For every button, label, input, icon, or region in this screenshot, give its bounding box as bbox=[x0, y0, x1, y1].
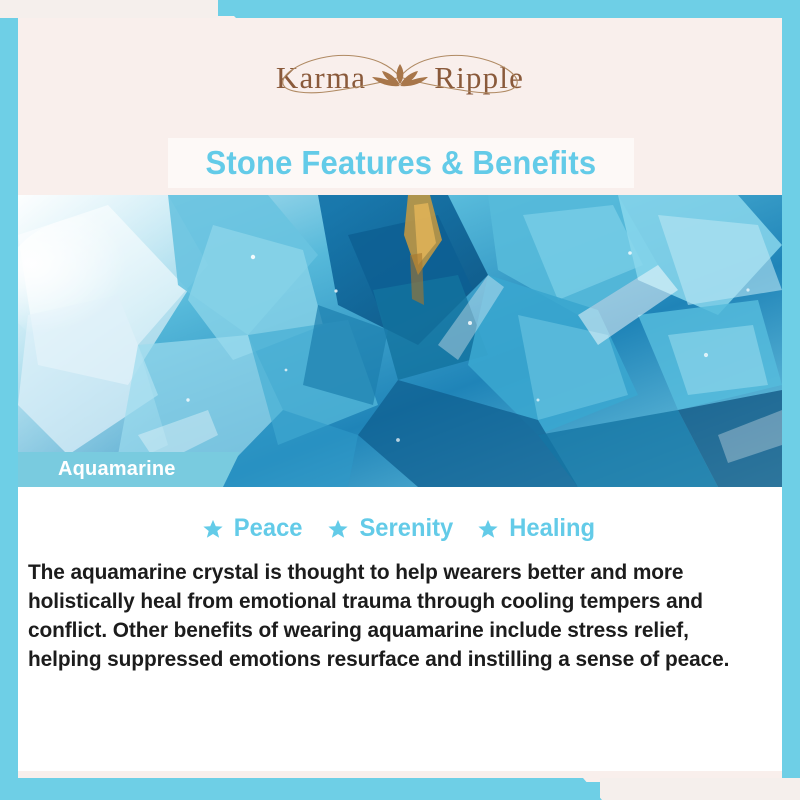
brand-name-right: Ripple bbox=[434, 62, 524, 93]
star-icon bbox=[327, 518, 349, 540]
brand-logo: Karma Ripple bbox=[0, 40, 800, 114]
keyword-label: Serenity bbox=[359, 514, 453, 543]
keyword-peace: Peace bbox=[202, 514, 304, 543]
keyword-label: Peace bbox=[234, 514, 303, 543]
stone-name-tag: Aquamarine bbox=[18, 452, 240, 487]
keyword-row: Peace Serenity Healing bbox=[18, 514, 782, 543]
title-banner: Stone Features & Benefits bbox=[168, 138, 634, 188]
stone-name-label: Aquamarine bbox=[58, 458, 176, 481]
star-icon bbox=[477, 518, 499, 540]
aquamarine-crystal-cluster-photo bbox=[18, 195, 782, 487]
corner-fill-top-left bbox=[0, 0, 218, 18]
brand-logo-inner: Karma Ripple bbox=[250, 45, 550, 109]
keyword-serenity: Serenity bbox=[327, 514, 456, 543]
star-icon bbox=[202, 518, 224, 540]
page-title: Stone Features & Benefits bbox=[206, 144, 597, 182]
keyword-healing: Healing bbox=[477, 514, 597, 543]
benefits-paragraph: The aquamarine crystal is thought to hel… bbox=[28, 558, 754, 674]
stone-benefits-poster: Karma Ripple Stone Features & Benefits bbox=[0, 0, 800, 800]
corner-fill-bottom-right bbox=[600, 778, 800, 800]
hero-image bbox=[18, 195, 782, 487]
keyword-label: Healing bbox=[510, 514, 596, 543]
brand-name-left: Karma bbox=[276, 62, 366, 93]
